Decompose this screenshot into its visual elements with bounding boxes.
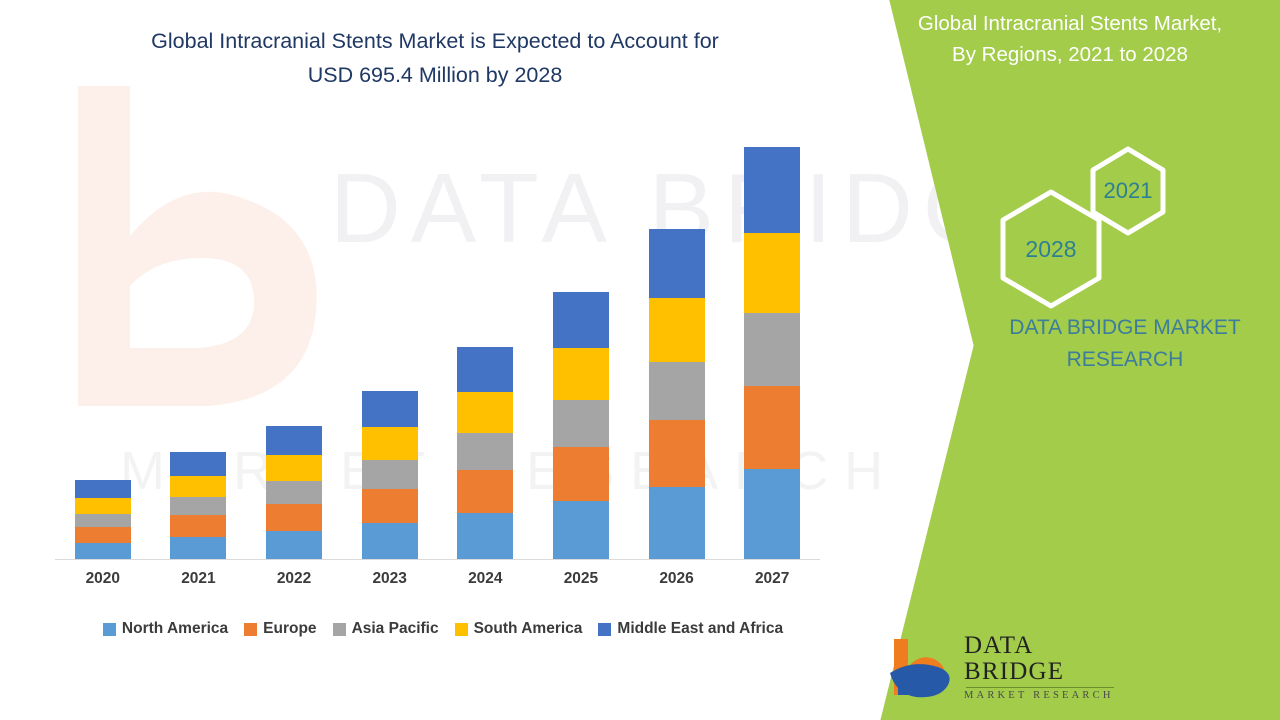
data-bridge-logo: DATA BRIDGE MARKET RESEARCH — [886, 632, 1116, 702]
bar-segment — [362, 460, 418, 489]
legend-label: Middle East and Africa — [617, 620, 783, 638]
x-axis-tick-label: 2023 — [362, 570, 418, 594]
legend-item[interactable]: South America — [455, 620, 583, 638]
infographic-root: DATA BRIDGE MARKET RESEARCH Global Intra… — [0, 0, 1280, 720]
bar-segment — [170, 537, 226, 559]
bar-segment — [457, 470, 513, 513]
data-bridge-logo-mark — [886, 633, 958, 701]
logo-divider — [966, 687, 1114, 688]
stacked-bar-chart — [55, 140, 820, 560]
legend-item[interactable]: Middle East and Africa — [598, 620, 783, 638]
legend-swatch-icon — [598, 623, 611, 636]
bar-column — [362, 391, 418, 559]
legend-label: Asia Pacific — [352, 620, 439, 638]
bar-segment — [744, 233, 800, 313]
bar-segment — [457, 433, 513, 470]
legend-item[interactable]: Europe — [244, 620, 316, 638]
legend-swatch-icon — [244, 623, 257, 636]
bar-segment — [362, 489, 418, 523]
page-title: Global Intracranial Stents Market is Exp… — [70, 24, 800, 92]
bar-segment — [75, 514, 131, 527]
bar-segment — [266, 481, 322, 504]
legend-label: North America — [122, 620, 228, 638]
bar-segment — [362, 427, 418, 460]
panel-title: Global Intracranial Stents Market, By Re… — [870, 8, 1270, 70]
bar-segment — [75, 498, 131, 514]
bar-segment — [553, 348, 609, 400]
x-axis-tick-label: 2025 — [553, 570, 609, 594]
bar-segment — [266, 455, 322, 481]
x-axis-tick-label: 2021 — [170, 570, 226, 594]
bar-segment — [75, 527, 131, 543]
bar-segment — [266, 504, 322, 531]
bar-segment — [75, 543, 131, 559]
x-axis-tick-label: 2020 — [75, 570, 131, 594]
bar-segment — [649, 487, 705, 559]
legend-swatch-icon — [455, 623, 468, 636]
x-axis-tick-label: 2022 — [266, 570, 322, 594]
bar-segment — [457, 347, 513, 392]
bar-segment — [649, 298, 705, 362]
logo-tagline: MARKET RESEARCH — [964, 690, 1116, 702]
legend-swatch-icon — [103, 623, 116, 636]
chart-plot-area — [55, 140, 820, 560]
data-bridge-logo-text: DATA BRIDGE MARKET RESEARCH — [964, 633, 1116, 702]
bar-segment — [649, 420, 705, 487]
brand-name: DATA BRIDGE MARKET RESEARCH — [960, 312, 1280, 376]
hexagon-end-year: 2028 — [996, 188, 1106, 310]
bar-segment — [649, 362, 705, 420]
bar-segment — [649, 229, 705, 298]
bar-segment — [553, 292, 609, 348]
bar-column — [457, 347, 513, 559]
x-axis-tick-label: 2026 — [649, 570, 705, 594]
bar-column — [744, 147, 800, 559]
bar-segment — [362, 391, 418, 427]
bar-column — [266, 426, 322, 559]
hexagon-end-year-label: 2028 — [996, 188, 1106, 310]
logo-name: DATA BRIDGE — [964, 633, 1116, 685]
bar-segment — [744, 147, 800, 233]
x-axis-tick-label: 2027 — [744, 570, 800, 594]
bar-segment — [553, 501, 609, 559]
bar-segment — [457, 392, 513, 433]
bar-segment — [553, 400, 609, 447]
bar-segment — [362, 523, 418, 559]
chart-legend: North AmericaEuropeAsia PacificSouth Ame… — [48, 616, 838, 642]
bar-column — [170, 452, 226, 559]
bar-segment — [170, 476, 226, 497]
x-axis-labels: 20202021202220232024202520262027 — [55, 570, 820, 594]
bar-segment — [266, 531, 322, 559]
bar-segment — [744, 313, 800, 386]
legend-label: South America — [474, 620, 583, 638]
x-axis-tick-label: 2024 — [457, 570, 513, 594]
bar-segment — [170, 515, 226, 537]
bar-segment — [744, 386, 800, 469]
bar-column — [649, 229, 705, 559]
bar-segment — [457, 513, 513, 559]
bar-segment — [75, 480, 131, 498]
bar-segment — [744, 469, 800, 559]
bar-column — [75, 480, 131, 559]
bar-segment — [170, 452, 226, 476]
bar-segment — [553, 447, 609, 501]
legend-swatch-icon — [333, 623, 346, 636]
bar-segment — [170, 497, 226, 515]
legend-item[interactable]: North America — [103, 620, 228, 638]
bar-column — [553, 292, 609, 559]
bar-segment — [266, 426, 322, 455]
legend-label: Europe — [263, 620, 316, 638]
legend-item[interactable]: Asia Pacific — [333, 620, 439, 638]
